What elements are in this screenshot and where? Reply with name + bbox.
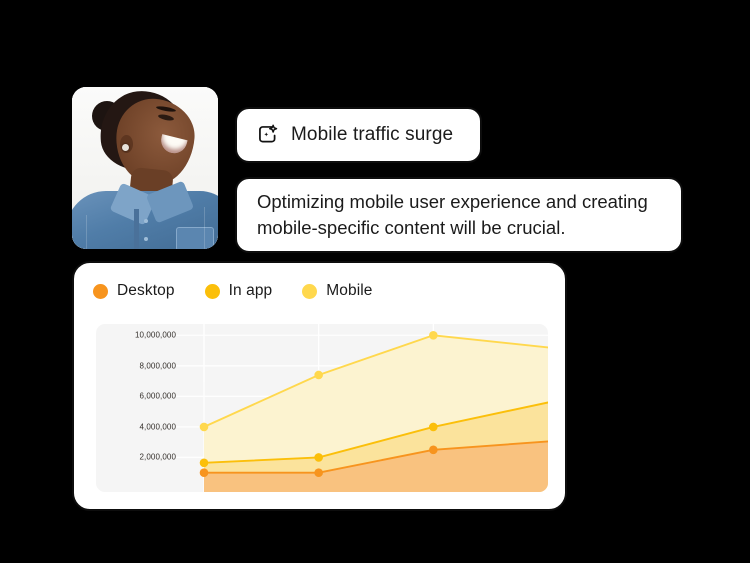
shirt-seam — [86, 215, 87, 249]
area-chart-svg — [96, 324, 548, 492]
legend-dot-desktop — [93, 284, 108, 299]
legend-item-mobile[interactable]: Mobile — [302, 282, 372, 300]
legend-item-desktop[interactable]: Desktop — [93, 282, 175, 300]
shirt-button — [144, 237, 148, 241]
legend-label-mobile: Mobile — [326, 282, 372, 300]
insight-body-bubble[interactable]: Optimizing mobile user experience and cr… — [235, 177, 683, 253]
legend-label-in-app: In app — [229, 282, 273, 300]
traffic-chart-card: Desktop In app Mobile 2,000,0004,000,000… — [72, 261, 567, 511]
shirt-seam — [204, 207, 205, 249]
legend-item-in-app[interactable]: In app — [205, 282, 273, 300]
legend-dot-mobile — [302, 284, 317, 299]
insight-title-text: Mobile traffic surge — [291, 124, 453, 146]
earring — [122, 144, 129, 151]
shirt-button — [144, 219, 148, 223]
portrait-image — [72, 87, 218, 249]
ai-sparkle-icon — [257, 124, 279, 146]
shirt-pocket — [176, 227, 214, 249]
chart-plot-area[interactable]: 2,000,0004,000,0006,000,0008,000,00010,0… — [96, 324, 548, 492]
promo-composition: Mobile traffic surge Optimizing mobile u… — [0, 0, 750, 563]
insight-body-text: Optimizing mobile user experience and cr… — [257, 189, 661, 241]
legend-label-desktop: Desktop — [117, 282, 175, 300]
shirt-placket — [134, 209, 139, 249]
legend-dot-in-app — [205, 284, 220, 299]
insight-title-bubble[interactable]: Mobile traffic surge — [235, 107, 482, 163]
portrait-photo — [72, 87, 218, 249]
chart-legend: Desktop In app Mobile — [93, 282, 373, 300]
